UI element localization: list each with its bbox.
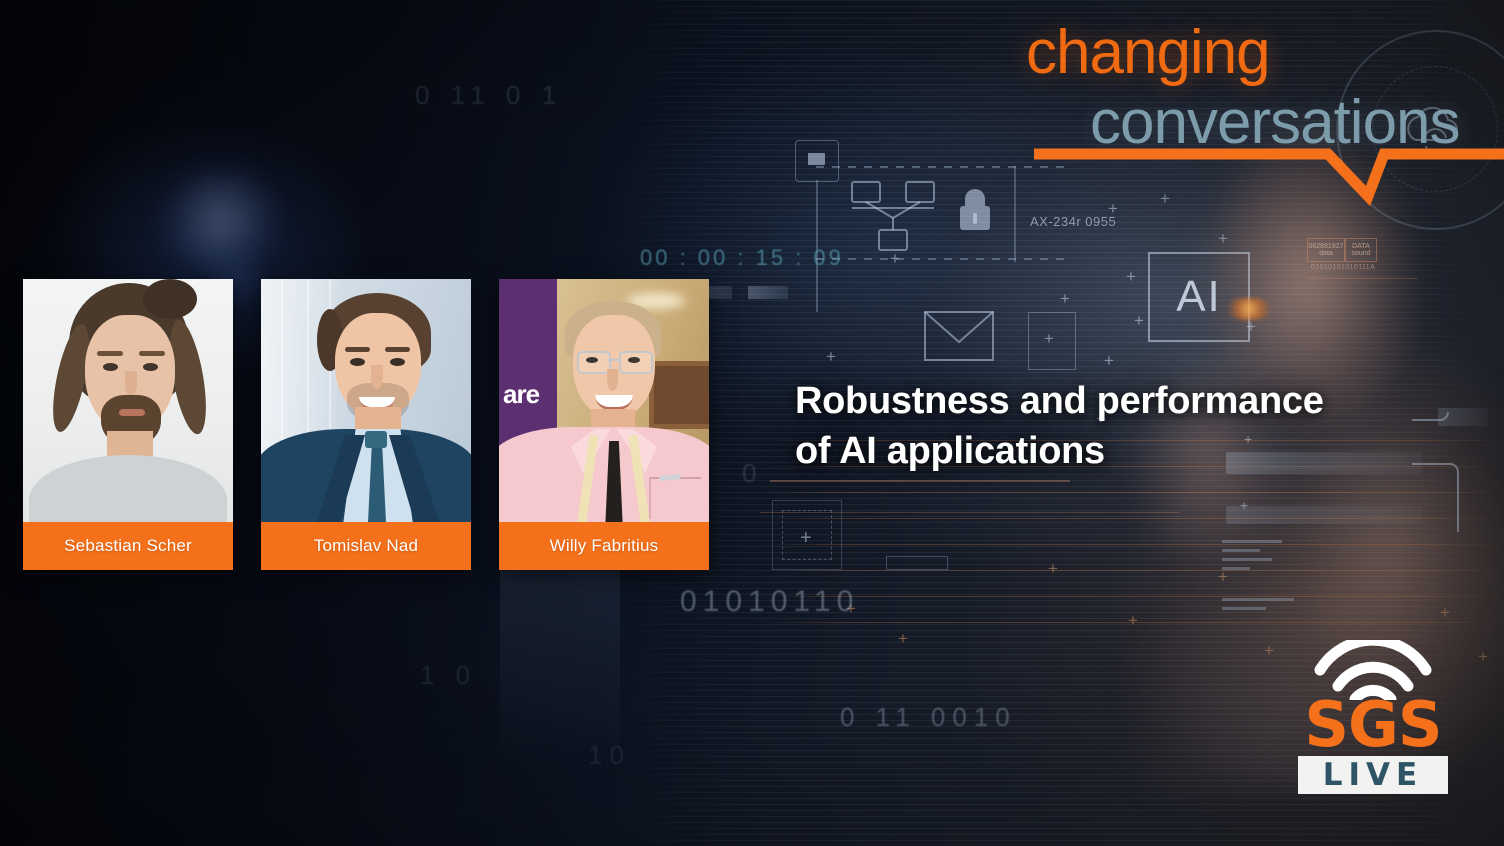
slide-stage: + + + + + + + + + + + + + + + + + + + + …: [0, 0, 1504, 846]
sgs-live-logo: SGS LIVE: [1298, 640, 1448, 800]
speaker-photo: [23, 279, 233, 522]
speaker-name-label: Willy Fabritius: [499, 522, 709, 570]
logo-wordmark: SGS: [1298, 694, 1448, 756]
speaker-name-label: Sebastian Scher: [23, 522, 233, 570]
brand-word-changing: changing: [1026, 22, 1270, 84]
photo-banner-text: are: [503, 379, 539, 410]
speaker-card-list: Sebastian Scher Tomislav Nad: [23, 279, 709, 570]
logo-sublabel: LIVE: [1298, 756, 1448, 794]
page-title-line-1: Robustness and performance: [795, 376, 1475, 426]
speaker-card[interactable]: Sebastian Scher: [23, 279, 233, 570]
page-title: Robustness and performance of AI applica…: [795, 376, 1475, 476]
brand-swoosh-icon: [1012, 142, 1504, 228]
speaker-photo: [261, 279, 471, 522]
page-title-line-2: of AI applications: [795, 426, 1475, 476]
speaker-name-label: Tomislav Nad: [261, 522, 471, 570]
speaker-card[interactable]: Tomislav Nad: [261, 279, 471, 570]
speaker-card[interactable]: are Willy Fabritius: [499, 279, 709, 570]
speaker-photo: are: [499, 279, 709, 522]
